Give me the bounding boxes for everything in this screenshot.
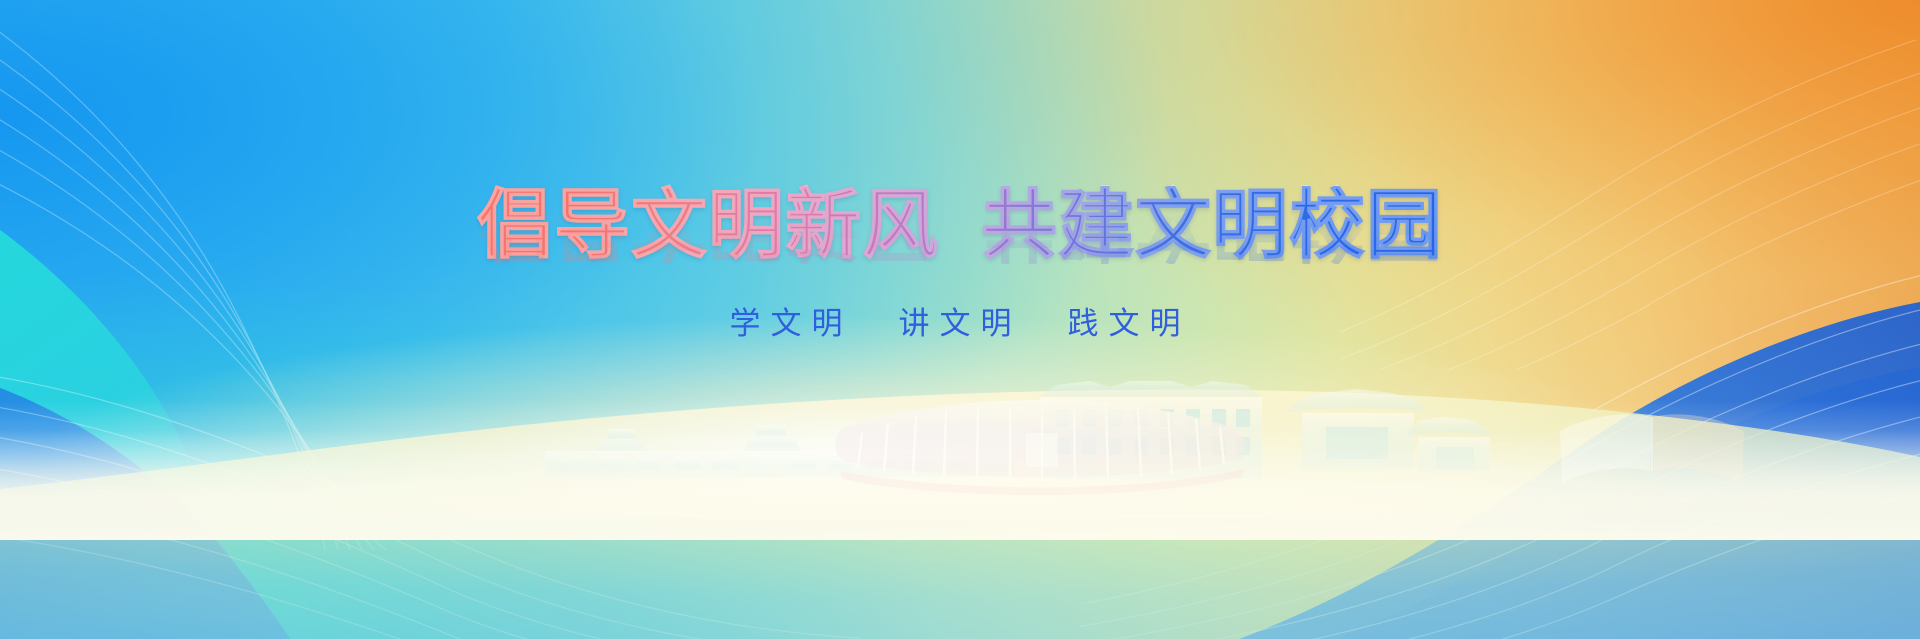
traditional-gate [1286, 389, 1492, 471]
campus-skyline [0, 355, 1920, 505]
open-book [1560, 414, 1744, 483]
campus-civility-banner: 倡导文明新风共建文明校园 倡导文明新风共建文明校园 学文明讲文明践文明 [0, 0, 1920, 639]
